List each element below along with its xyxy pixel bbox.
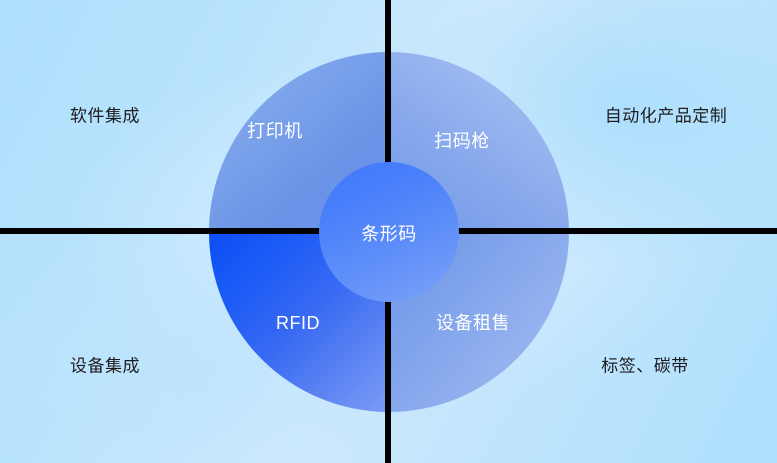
segment-label-scanner: 扫码枪	[434, 132, 490, 150]
segment-label-rfid: RFID	[276, 314, 320, 332]
diagram-canvas: 条形码 打印机 扫码枪 RFID 设备租售 软件集成 自动化产品定制 设备集成 …	[0, 0, 777, 463]
outer-label-equipment: 设备集成	[70, 358, 140, 375]
outer-label-software: 软件集成	[70, 108, 140, 125]
segment-label-rental: 设备租售	[436, 314, 510, 332]
segment-label-printer: 打印机	[247, 122, 303, 140]
outer-label-consumable: 标签、碳带	[601, 358, 689, 375]
outer-label-automation: 自动化产品定制	[605, 108, 728, 125]
center-circle-label: 条形码	[361, 225, 417, 243]
